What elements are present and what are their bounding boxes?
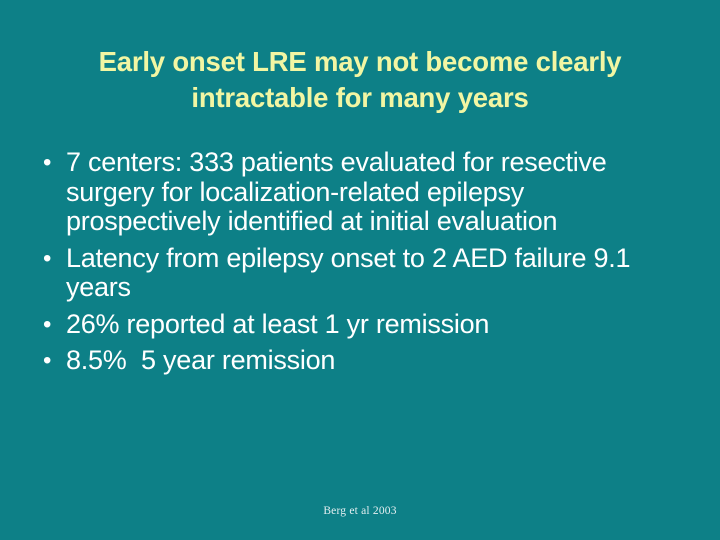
list-item-text: 26% reported at least 1 yr remission (66, 310, 676, 340)
bullet-point-icon: • (36, 244, 66, 274)
list-item: • 26% reported at least 1 yr remission (36, 310, 676, 340)
list-item: • 7 centers: 333 patients evaluated for … (36, 148, 676, 237)
citation-footer: Berg et al 2003 (0, 505, 720, 517)
bullet-list: • 7 centers: 333 patients evaluated for … (36, 148, 676, 383)
list-item-text: 8.5% 5 year remission (66, 346, 676, 376)
presentation-slide: Early onset LRE may not become clearly i… (0, 0, 720, 540)
slide-title: Early onset LRE may not become clearly i… (40, 44, 680, 116)
bullet-point-icon: • (36, 310, 66, 340)
list-item: • Latency from epilepsy onset to 2 AED f… (36, 244, 676, 303)
bullet-point-icon: • (36, 346, 66, 376)
bullet-point-icon: • (36, 148, 66, 178)
list-item-text: 7 centers: 333 patients evaluated for re… (66, 148, 676, 237)
slide-title-line-1: Early onset LRE may not become clearly (40, 44, 680, 80)
slide-title-line-2: intractable for many years (40, 80, 680, 116)
list-item-text: Latency from epilepsy onset to 2 AED fai… (66, 244, 676, 303)
list-item: • 8.5% 5 year remission (36, 346, 676, 376)
